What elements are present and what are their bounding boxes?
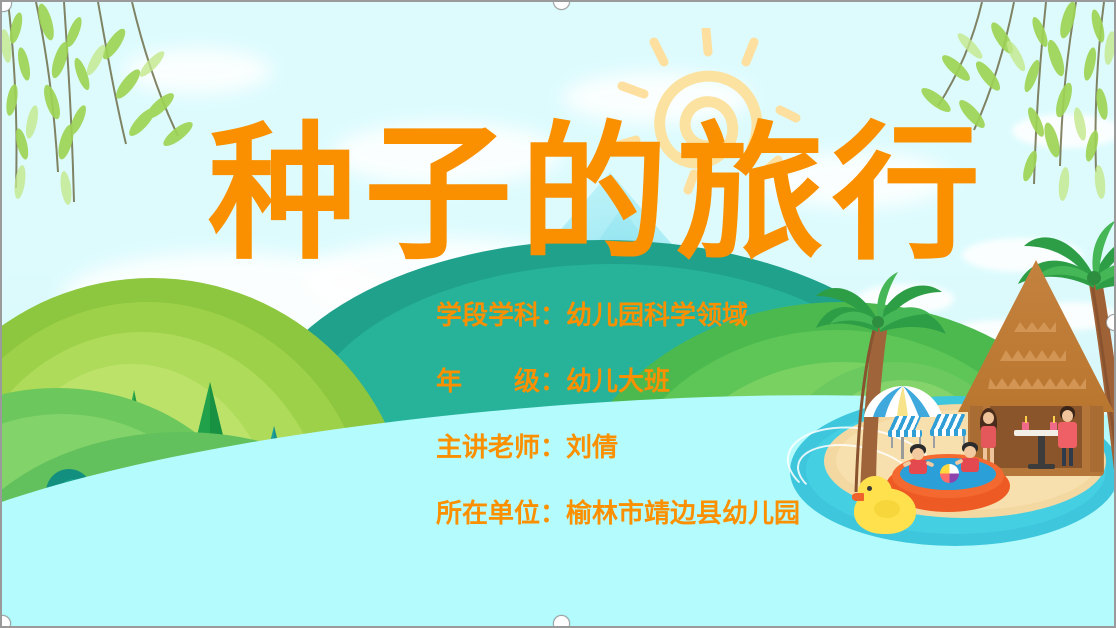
rubber-duck-wing bbox=[874, 500, 900, 518]
meta-line-institution: 所在单位：榆林市靖边县幼儿园 bbox=[436, 500, 800, 528]
bar-table-stem bbox=[1038, 436, 1045, 466]
hut-thatch-texture bbox=[958, 260, 1114, 412]
beach-umbrella-icon bbox=[864, 386, 942, 416]
bar-table-foot bbox=[1028, 464, 1055, 469]
beach-ball-icon bbox=[940, 464, 959, 483]
slide-title: 种子的旅行 bbox=[208, 120, 988, 268]
selection-handle-right-middle[interactable] bbox=[1106, 314, 1116, 331]
meta-line-subject: 学段学科：幼儿园科学领域 bbox=[436, 302, 800, 330]
rubber-duck-eye bbox=[867, 486, 872, 491]
meta-line-grade: 年 级：幼儿大班 bbox=[436, 368, 800, 396]
rubber-duck-beak bbox=[852, 493, 864, 501]
slide-meta-block: 学段学科：幼儿园科学领域 年 级：幼儿大班 主讲老师：刘倩 所在单位：榆林市靖边… bbox=[436, 302, 800, 528]
selection-handle-bottom-center[interactable] bbox=[553, 615, 570, 628]
drink-straw-icon bbox=[1053, 416, 1055, 423]
meta-line-teacher: 主讲老师：刘倩 bbox=[436, 434, 800, 462]
slide-canvas[interactable]: 种子的旅行 学段学科：幼儿园科学领域 年 级：幼儿大班 主讲老师：刘倩 所在单位… bbox=[0, 0, 1116, 628]
hut-post bbox=[1090, 406, 1103, 472]
drink-straw-icon bbox=[1025, 416, 1027, 423]
